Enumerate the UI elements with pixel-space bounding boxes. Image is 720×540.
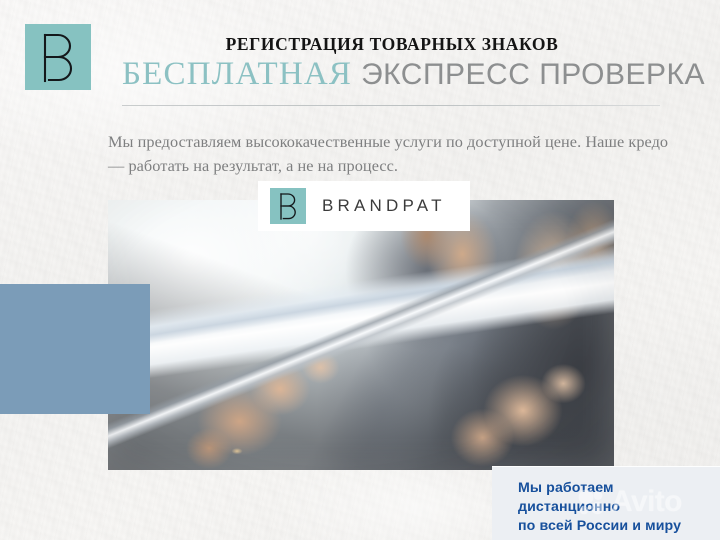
brandpat-logo-b-icon (270, 188, 306, 224)
headline: БЕСПЛАТНАЯЭКСПРЕСС ПРОВЕРКА (122, 58, 662, 91)
brandpat-logo-square (270, 188, 306, 224)
remote-work-badge: Мы работаем дистанционно по всей России … (492, 466, 720, 540)
header-divider (122, 105, 660, 106)
brandpat-wordmark: BRANDPAT (322, 196, 446, 216)
poster-canvas: РЕГИСТРАЦИЯ ТОВАРНЫХ ЗНАКОВ БЕСПЛАТНАЯЭК… (0, 0, 720, 540)
accent-rectangle (0, 284, 150, 414)
photo-vignette (108, 200, 614, 470)
lede-paragraph: Мы предоставляем высококачественные услу… (108, 130, 674, 178)
brand-logo-b-icon (25, 24, 91, 90)
headline-highlight: БЕСПЛАТНАЯ (122, 56, 352, 92)
brand-logo-square (25, 24, 91, 90)
remote-work-text: Мы работаем дистанционно по всей России … (518, 479, 681, 536)
headline-rest: ЭКСПРЕСС ПРОВЕРКА (361, 58, 705, 91)
page-kicker-title: РЕГИСТРАЦИЯ ТОВАРНЫХ ЗНАКОВ (122, 34, 662, 55)
hero-photo (108, 200, 614, 470)
brandpat-badge: BRANDPAT (258, 181, 470, 231)
